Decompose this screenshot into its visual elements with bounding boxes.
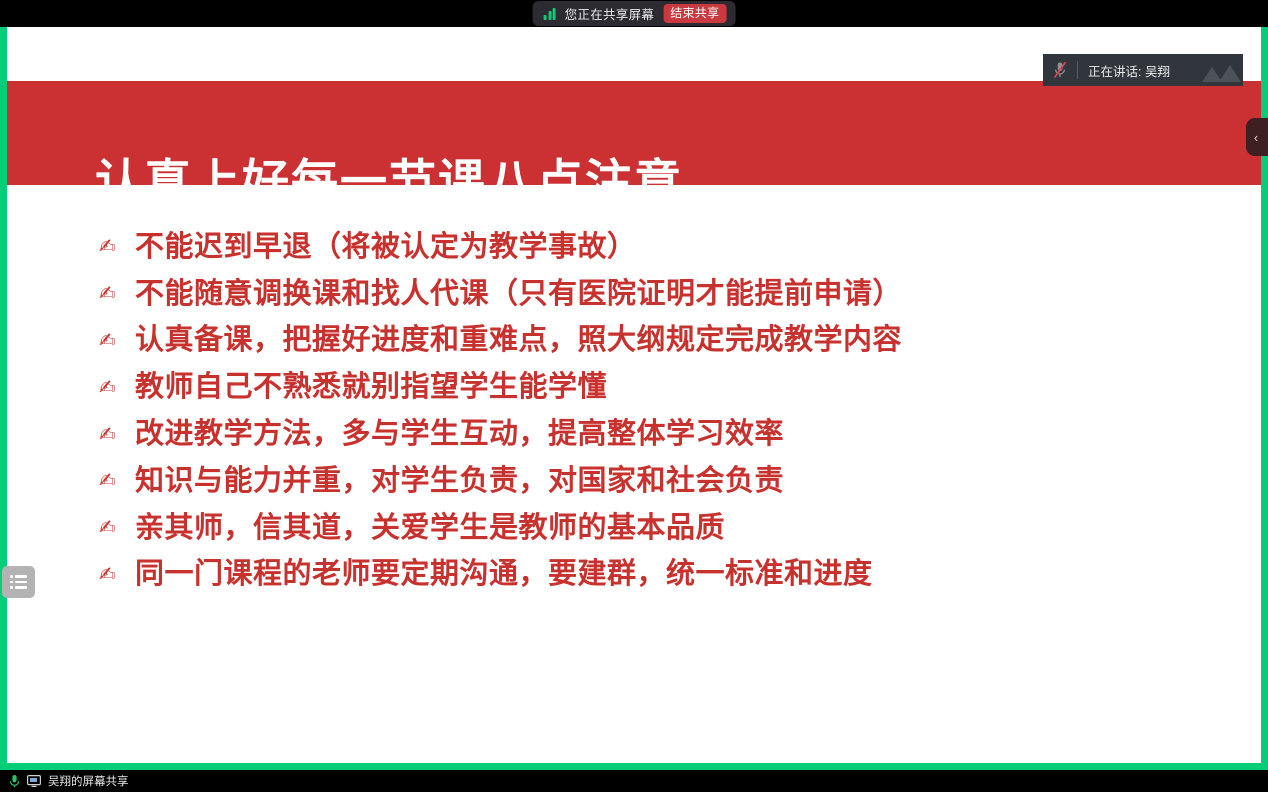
pen-bullet-icon: ✍ [99, 378, 135, 398]
slide-title-banner: 认真上好每一节课八点注意 [7, 81, 1261, 185]
screen-share-top-bar: 您正在共享屏幕 结束共享 [0, 0, 1268, 27]
list-item-label: 亲其师，信其道，关爱学生是教师的基本品质 [135, 513, 725, 542]
list-view-icon [10, 575, 27, 589]
panel-collapse-handle[interactable]: ‹ [1246, 118, 1268, 156]
share-status-pill: 您正在共享屏幕 结束共享 [533, 1, 736, 26]
share-owner-label: 吴翔的屏幕共享 [48, 773, 129, 789]
share-border-right [1261, 0, 1268, 770]
list-item: ✍ 不能迟到早退（将被认定为教学事故） [99, 223, 1219, 270]
signal-bars-icon [544, 8, 556, 20]
list-item: ✍ 改进教学方法，多与学生互动，提高整体学习效率 [99, 410, 1219, 457]
shared-slide: 认真上好每一节课八点注意 ✍ 不能迟到早退（将被认定为教学事故） ✍ 不能随意调… [7, 27, 1261, 763]
share-status-label: 您正在共享屏幕 [565, 4, 655, 23]
end-share-button[interactable]: 结束共享 [663, 4, 726, 23]
list-item-label: 知识与能力并重，对学生负责，对国家和社会负责 [135, 466, 784, 495]
list-item-label: 改进教学方法，多与学生互动，提高整体学习效率 [135, 419, 784, 448]
microphone-icon[interactable] [9, 774, 20, 788]
list-item: ✍ 亲其师，信其道，关爱学生是教师的基本品质 [99, 504, 1219, 551]
pen-bullet-icon: ✍ [99, 471, 135, 491]
share-border-left [0, 0, 7, 770]
active-speaker-chip[interactable]: 正在讲话: 吴翔 [1043, 54, 1243, 86]
list-item: ✍ 教师自己不熟悉就别指望学生能学懂 [99, 363, 1219, 410]
list-item: ✍ 同一门课程的老师要定期沟通，要建群，统一标准和进度 [99, 551, 1219, 598]
list-view-toggle-button[interactable] [2, 566, 35, 598]
speaker-video-thumbnail[interactable] [1199, 54, 1243, 86]
share-border-bottom [0, 763, 1268, 770]
list-item-label: 不能随意调换课和找人代课（只有医院证明才能提前申请） [135, 279, 902, 308]
active-speaker-label: 正在讲话: 吴翔 [1078, 61, 1199, 80]
list-item-label: 认真备课，把握好进度和重难点，照大纲规定完成教学内容 [135, 325, 902, 354]
pen-bullet-icon: ✍ [99, 237, 135, 257]
list-item: ✍ 认真备课，把握好进度和重难点，照大纲规定完成教学内容 [99, 317, 1219, 364]
chevron-left-icon: ‹ [1254, 131, 1258, 144]
pen-bullet-icon: ✍ [99, 565, 135, 585]
pen-bullet-icon: ✍ [99, 425, 135, 445]
taskbar: 吴翔的屏幕共享 [0, 770, 1268, 792]
pen-bullet-icon: ✍ [99, 331, 135, 351]
list-item-label: 同一门课程的老师要定期沟通，要建群，统一标准和进度 [135, 559, 873, 588]
microphone-muted-icon [1043, 61, 1077, 79]
page-title: 认真上好每一节课八点注意 [95, 159, 683, 206]
pen-bullet-icon: ✍ [99, 518, 135, 538]
slide-bullet-list: ✍ 不能迟到早退（将被认定为教学事故） ✍ 不能随意调换课和找人代课（只有医院证… [99, 223, 1219, 597]
screen-share-view: 认真上好每一节课八点注意 ✍ 不能迟到早退（将被认定为教学事故） ✍ 不能随意调… [0, 0, 1268, 792]
list-item-label: 教师自己不熟悉就别指望学生能学懂 [135, 372, 607, 401]
list-item: ✍ 不能随意调换课和找人代课（只有医院证明才能提前申请） [99, 270, 1219, 317]
list-item: ✍ 知识与能力并重，对学生负责，对国家和社会负责 [99, 457, 1219, 504]
monitor-icon[interactable] [27, 775, 41, 787]
pen-bullet-icon: ✍ [99, 284, 135, 304]
list-item-label: 不能迟到早退（将被认定为教学事故） [135, 232, 637, 261]
